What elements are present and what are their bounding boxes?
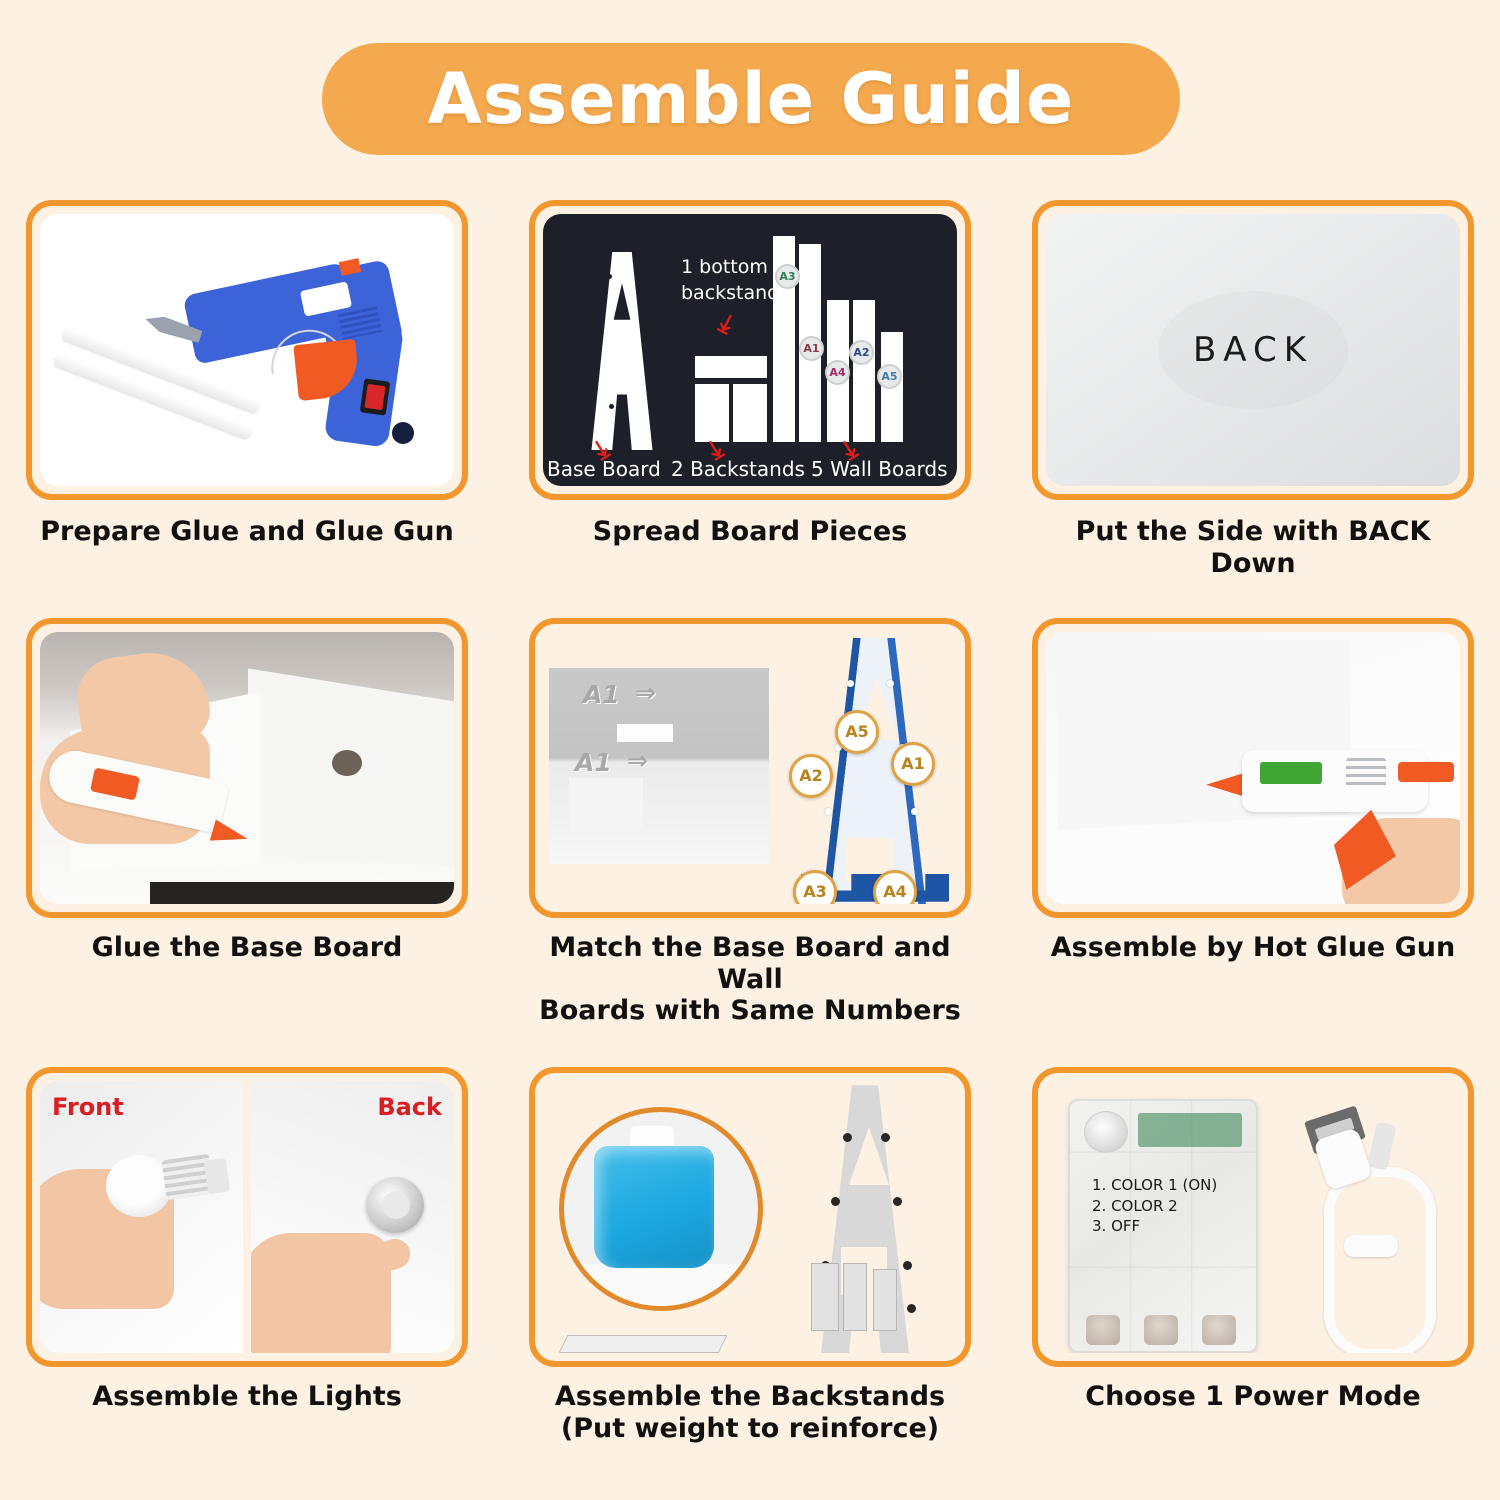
step-card-6: Assemble by Hot Glue Gun <box>1032 618 1474 1028</box>
piece-badge-a5: A5 <box>877 364 902 389</box>
diagram-note-line-2: backstand <box>681 282 779 305</box>
step-2-caption: Spread Board Pieces <box>593 516 907 548</box>
water-bag-inset <box>559 1107 763 1311</box>
step-5-caption-line-2: Boards with Same Numbers <box>539 995 961 1026</box>
power-mode-list: 1. COLOR 1 (ON) 2. COLOR 2 3. OFF <box>1092 1175 1217 1236</box>
step-7-image-panel: Front Back <box>26 1067 468 1367</box>
step-9-image-panel: 1. COLOR 1 (ON) 2. COLOR 2 3. OFF <box>1032 1067 1474 1367</box>
step-8-image-panel <box>529 1067 971 1367</box>
piece-badge-a2: A2 <box>849 340 874 365</box>
page-title-banner: Assemble Guide <box>322 43 1180 155</box>
glue-base-board-photo <box>40 632 454 904</box>
letter-badge-a2: A2 <box>789 754 833 798</box>
step-5-caption-line-1: Match the Base Board and Wall <box>549 932 950 995</box>
diagram-label-backstands: 2 Backstands <box>671 457 805 481</box>
step-card-7: Front Back Assemble the Light <box>26 1067 468 1445</box>
usb-cable <box>1284 1107 1434 1347</box>
hot-glue-gun-photo <box>1046 632 1460 904</box>
step-6-caption: Assemble by Hot Glue Gun <box>1051 932 1456 964</box>
diagram-label-wall-boards: 5 Wall Boards <box>811 457 948 481</box>
step-card-4: Glue the Base Board <box>26 618 468 1028</box>
step-6-image-panel <box>1032 618 1474 918</box>
step-8-caption: Assemble the Backstands (Put weight to r… <box>555 1381 945 1445</box>
step-card-1: Prepare Glue and Glue Gun <box>26 200 468 580</box>
step-1-caption: Prepare Glue and Glue Gun <box>40 516 453 548</box>
step-8-caption-line-2: (Put weight to reinforce) <box>561 1413 939 1444</box>
battery-box: 1. COLOR 1 (ON) 2. COLOR 2 3. OFF <box>1068 1099 1258 1353</box>
step-2-image-panel: 1 bottom backstand ⤓ A3 A1 A2 <box>529 200 971 500</box>
power-mode-illustration: 1. COLOR 1 (ON) 2. COLOR 2 3. OFF <box>1046 1081 1460 1353</box>
diagram-note-line-1: 1 bottom <box>681 256 768 279</box>
step-card-9: 1. COLOR 1 (ON) 2. COLOR 2 3. OFF <box>1032 1067 1474 1445</box>
glue-gun-illustration <box>40 214 454 486</box>
board-pieces-diagram: 1 bottom backstand ⤓ A3 A1 A2 <box>543 214 957 486</box>
emboss-label-a1-top: A1 <box>583 680 620 709</box>
page-title: Assemble Guide <box>428 58 1075 140</box>
step-3-image-panel: BACK <box>1032 200 1474 500</box>
step-5-caption: Match the Base Board and Wall Boards wit… <box>529 932 971 1028</box>
light-front-photo: Front <box>40 1081 243 1353</box>
emboss-arrow-top-icon: ⇒ <box>635 678 656 707</box>
step-card-5: A1 ⇒ A1 ⇒ <box>529 618 971 1028</box>
step-card-2: 1 bottom backstand ⤓ A3 A1 A2 <box>529 200 971 580</box>
step-7-caption: Assemble the Lights <box>92 1381 402 1413</box>
assemble-lights-photos: Front Back <box>40 1081 454 1353</box>
emboss-label-a1-bottom: A1 <box>575 748 612 777</box>
power-mode-2: 2. COLOR 2 <box>1092 1196 1217 1216</box>
step-card-8: Assemble the Backstands (Put weight to r… <box>529 1067 971 1445</box>
step-9-caption: Choose 1 Power Mode <box>1085 1381 1420 1413</box>
step-8-caption-line-1: Assemble the Backstands <box>555 1381 945 1412</box>
board-back-text: BACK <box>1193 330 1313 370</box>
steps-row-3: Front Back Assemble the Light <box>0 1067 1500 1445</box>
step-1-image-panel <box>26 200 468 500</box>
step-4-caption: Glue the Base Board <box>92 932 403 964</box>
steps-row-1: Prepare Glue and Glue Gun <box>0 200 1500 580</box>
emboss-arrow-bottom-icon: ⇒ <box>627 746 648 775</box>
assembly-steps-grid: Prepare Glue and Glue Gun <box>0 200 1500 1445</box>
diagram-label-base-board: Base Board <box>547 457 661 481</box>
step-3-caption: Put the Side with BACK Down <box>1032 516 1474 580</box>
light-back-photo: Back <box>251 1081 454 1353</box>
steps-row-2: Glue the Base Board A1 ⇒ A1 ⇒ <box>0 618 1500 1028</box>
power-mode-3: 3. OFF <box>1092 1216 1217 1236</box>
piece-badge-a1: A1 <box>799 336 824 361</box>
letter-badge-a5: A5 <box>835 710 879 754</box>
power-mode-1: 1. COLOR 1 (ON) <box>1092 1175 1217 1195</box>
letter-badge-a1: A1 <box>891 742 935 786</box>
back-label: Back <box>377 1093 442 1121</box>
match-numbers-illustration: A1 ⇒ A1 ⇒ <box>543 632 957 904</box>
step-card-3: BACK Put the Side with BACK Down <box>1032 200 1474 580</box>
step-5-image-panel: A1 ⇒ A1 ⇒ <box>529 618 971 918</box>
step-4-image-panel <box>26 618 468 918</box>
front-label: Front <box>52 1093 124 1121</box>
back-board-illustration: BACK <box>1046 214 1460 486</box>
piece-badge-a4: A4 <box>825 360 850 385</box>
piece-badge-a3: A3 <box>775 264 800 289</box>
power-switch-icon <box>1084 1111 1128 1153</box>
backstands-illustration <box>543 1081 957 1353</box>
